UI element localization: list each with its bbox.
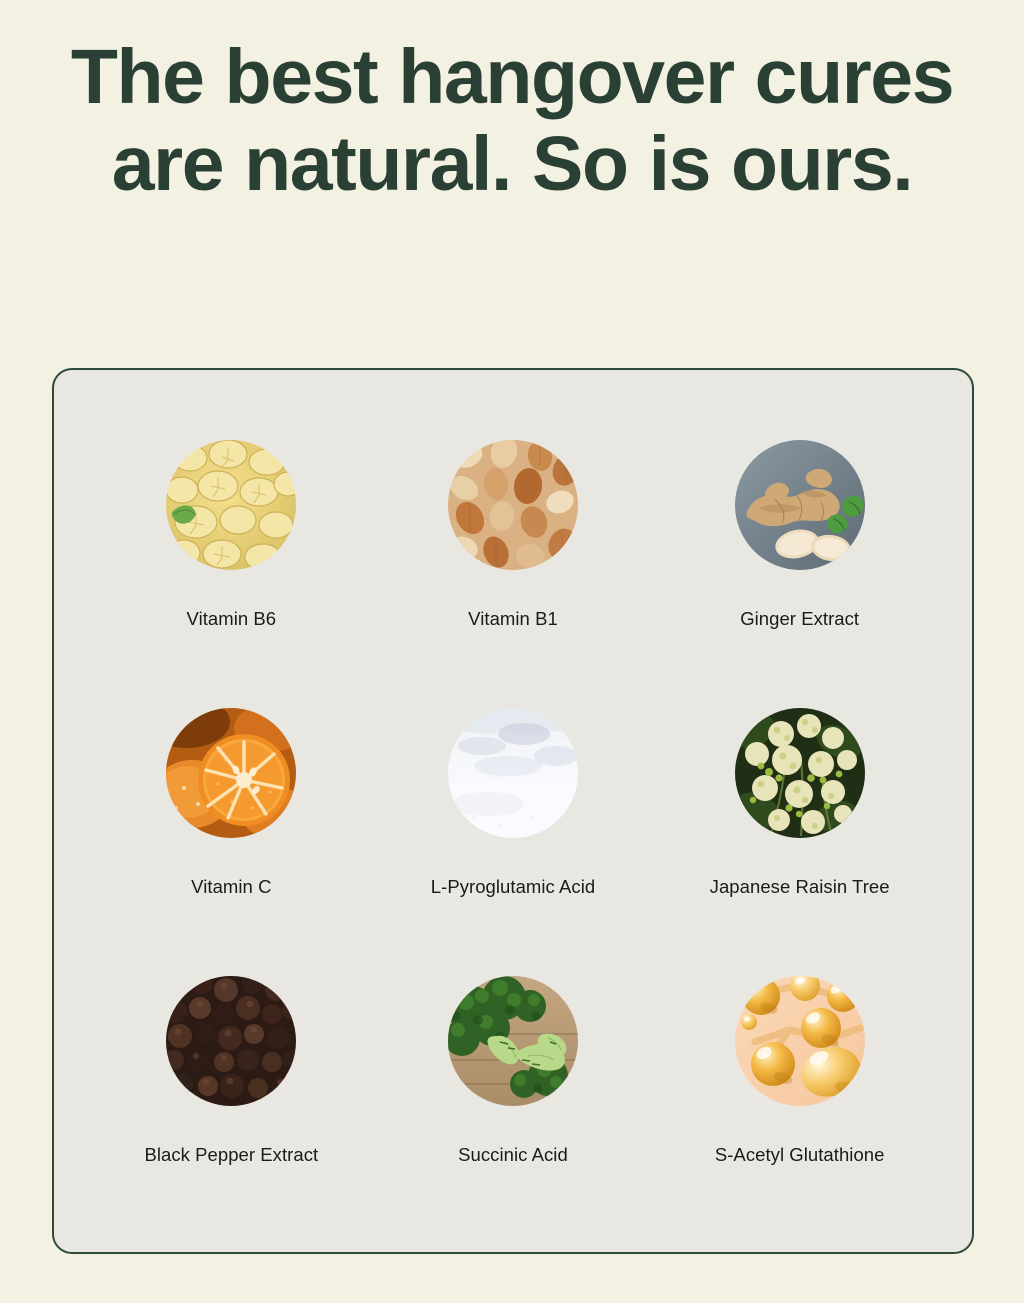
raisin-tree-flowers-image xyxy=(735,708,865,838)
ginger-root-image xyxy=(735,440,865,570)
broccoli-image xyxy=(448,976,578,1106)
ingredient-item[interactable]: S-Acetyl Glutathione xyxy=(647,948,916,1216)
page-title: The best hangover cures are natural. So … xyxy=(62,34,962,208)
ingredient-label: Black Pepper Extract xyxy=(144,1144,318,1166)
ingredient-item[interactable]: Vitamin B1 xyxy=(379,412,648,680)
ingredient-label: Japanese Raisin Tree xyxy=(710,876,890,898)
ingredient-label: L-Pyroglutamic Acid xyxy=(431,876,595,898)
ingredients-card: Vitamin B6 xyxy=(52,368,974,1254)
ingredient-item[interactable]: Japanese Raisin Tree xyxy=(647,680,916,948)
ingredient-item[interactable]: L-Pyroglutamic Acid xyxy=(379,680,648,948)
ingredient-label: S-Acetyl Glutathione xyxy=(715,1144,885,1166)
ingredient-label: Succinic Acid xyxy=(458,1144,568,1166)
golden-molecule-image xyxy=(735,976,865,1106)
mixed-nuts-image xyxy=(448,440,578,570)
ingredient-label: Vitamin B6 xyxy=(187,608,277,630)
ingredient-item[interactable]: Ginger Extract xyxy=(647,412,916,680)
banana-slices-image xyxy=(166,440,296,570)
ingredient-item[interactable]: Succinic Acid xyxy=(379,948,648,1216)
orange-halves-image xyxy=(166,708,296,838)
black-peppercorns-image xyxy=(166,976,296,1106)
ingredient-item[interactable]: Black Pepper Extract xyxy=(110,948,379,1216)
ingredient-label: Vitamin C xyxy=(191,876,271,898)
ingredient-item[interactable]: Vitamin C xyxy=(110,680,379,948)
ingredient-label: Ginger Extract xyxy=(740,608,859,630)
white-powder-image xyxy=(448,708,578,838)
ingredient-item[interactable]: Vitamin B6 xyxy=(110,412,379,680)
ingredients-grid: Vitamin B6 xyxy=(54,370,972,1252)
ingredient-label: Vitamin B1 xyxy=(468,608,558,630)
